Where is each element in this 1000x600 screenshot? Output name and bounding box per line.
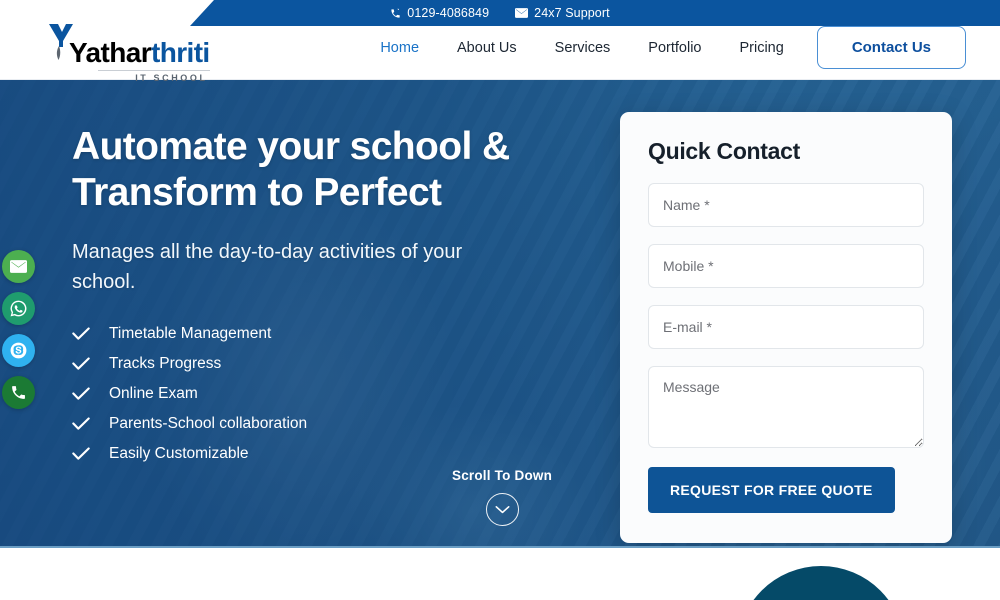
feature-label: Parents-School collaboration — [109, 415, 307, 433]
chevron-down-icon[interactable] — [486, 493, 519, 526]
main-nav: Home About Us Services Portfolio Pricing… — [361, 26, 966, 69]
topbar-phone-text: 0129-4086849 — [407, 6, 489, 20]
feature-item: Tracks Progress — [72, 355, 612, 373]
check-icon — [72, 325, 90, 343]
hero-title-line1: Automate your school & — [72, 125, 510, 168]
check-icon — [72, 355, 90, 373]
whatsapp-icon[interactable] — [2, 292, 35, 325]
nav-item-pricing[interactable]: Pricing — [720, 34, 802, 62]
scroll-to-down[interactable]: Scroll To Down — [452, 468, 552, 526]
nav-item-portfolio[interactable]: Portfolio — [629, 34, 720, 62]
logo-text-orange: Yathar — [69, 39, 151, 67]
logo-y-mark-icon — [48, 22, 74, 56]
topbar-phone[interactable]: 0129-4086849 — [390, 6, 489, 20]
contact-us-button[interactable]: Contact Us — [817, 26, 966, 69]
top-bar-content: 0129-4086849 24x7 Support — [0, 0, 1000, 26]
mobile-input[interactable] — [648, 244, 924, 288]
hero-content: Automate your school & Transform to Perf… — [72, 124, 612, 475]
request-quote-button[interactable]: REQUEST FOR FREE QUOTE — [648, 467, 895, 513]
feature-item: Easily Customizable — [72, 445, 612, 463]
quick-contact-title: Quick Contact — [648, 138, 924, 165]
below-hero-section — [0, 550, 1000, 600]
check-icon — [72, 445, 90, 463]
topbar-support[interactable]: 24x7 Support — [515, 6, 610, 20]
site-logo[interactable]: Yathar thriti IT SCHOOL — [48, 22, 210, 83]
logo-text-blue: thriti — [151, 39, 210, 67]
logo-row: Yathar thriti — [48, 22, 210, 67]
name-input[interactable] — [648, 183, 924, 227]
feature-label: Easily Customizable — [109, 445, 249, 463]
feature-label: Timetable Management — [109, 325, 271, 343]
hero-section: Automate your school & Transform to Perf… — [0, 80, 1000, 548]
feature-label: Tracks Progress — [109, 355, 221, 373]
envelope-icon — [515, 8, 528, 18]
logo-tagline: IT SCHOOL — [98, 70, 210, 83]
hero-title: Automate your school & Transform to Perf… — [72, 124, 612, 215]
nav-item-home[interactable]: Home — [361, 34, 438, 62]
check-icon — [72, 415, 90, 433]
quick-contact-card: Quick Contact REQUEST FOR FREE QUOTE — [620, 112, 952, 543]
feature-label: Online Exam — [109, 385, 198, 403]
scroll-to-down-label: Scroll To Down — [452, 468, 552, 483]
phone-icon — [390, 8, 401, 19]
check-icon — [72, 385, 90, 403]
feature-item: Parents-School collaboration — [72, 415, 612, 433]
page-root: 0129-4086849 24x7 Support Yathar — [0, 0, 1000, 600]
skype-icon[interactable] — [2, 334, 35, 367]
email-input[interactable] — [648, 305, 924, 349]
top-bar: 0129-4086849 24x7 Support — [0, 0, 1000, 26]
message-textarea[interactable] — [648, 366, 924, 448]
feature-item: Timetable Management — [72, 325, 612, 343]
feature-item: Online Exam — [72, 385, 612, 403]
nav-item-services[interactable]: Services — [536, 34, 630, 62]
hero-subtitle: Manages all the day-to-day activities of… — [72, 237, 527, 297]
decorative-circle — [737, 566, 905, 600]
nav-item-about-us[interactable]: About Us — [438, 34, 536, 62]
phone-icon[interactable] — [2, 376, 35, 409]
hero-feature-list: Timetable Management Tracks Progress Onl… — [72, 325, 612, 463]
topbar-support-text: 24x7 Support — [534, 6, 610, 20]
hero-title-line2: Transform to Perfect — [72, 171, 441, 214]
social-rail — [2, 250, 35, 409]
email-icon[interactable] — [2, 250, 35, 283]
